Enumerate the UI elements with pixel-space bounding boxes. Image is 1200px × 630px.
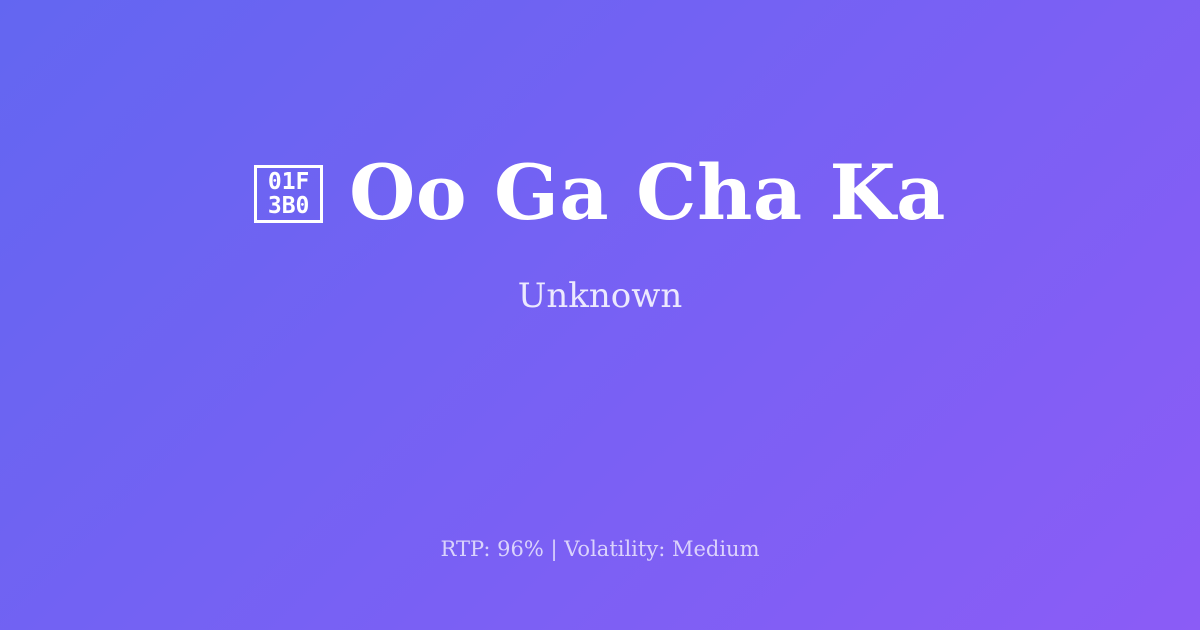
- slot-machine-icon-codepoint-high: 01F: [268, 170, 310, 194]
- slot-machine-icon: 01F 3B0: [254, 165, 323, 223]
- page-subtitle: Unknown: [518, 276, 683, 317]
- slot-machine-icon-codepoint-low: 3B0: [268, 194, 310, 218]
- og-card: 01F 3B0 Oo Ga Cha Ka Unknown RTP: 96% | …: [0, 0, 1200, 630]
- page-title: Oo Ga Cha Ka: [349, 153, 946, 234]
- title-row: 01F 3B0 Oo Ga Cha Ka: [254, 153, 946, 234]
- hero-section: 01F 3B0 Oo Ga Cha Ka Unknown: [0, 0, 1200, 470]
- footer-section: RTP: 96% | Volatility: Medium: [0, 470, 1200, 630]
- game-meta-line: RTP: 96% | Volatility: Medium: [441, 537, 760, 562]
